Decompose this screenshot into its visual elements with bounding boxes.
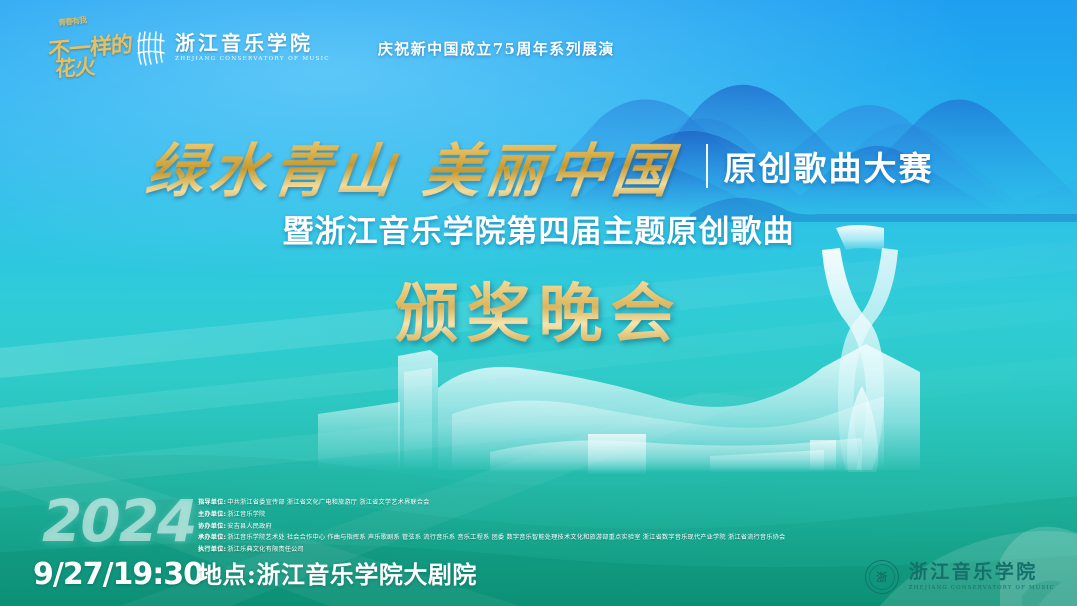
header-bar: 青春有我 不一样的 花火 浙江音乐 [0, 0, 1077, 96]
campaign-mark-tiny: 青春有我 [58, 15, 87, 29]
headline-award-ceremony: 颁奖晚会 [395, 263, 683, 355]
credit-label: 指导单位: [198, 499, 226, 506]
credit-value: 浙江音乐学院艺术处 社会合作中心 作曲与指挥系 声乐歌剧系 管弦系 流行音乐系 … [227, 534, 785, 541]
footer-logo-name-cn: 浙江音乐学院 [909, 563, 1055, 582]
title-block: 绿水青山 美丽中国 原创歌曲大赛 暨浙江音乐学院第四届主题原创歌曲 颁奖晚会 [0, 128, 1077, 355]
credit-value: 中共浙江省委宣传部 浙江省文化广电和旅游厅 浙江省文学艺术界联合会 [227, 499, 429, 506]
credit-row: 执行单位: 浙江乐典文化有限责任公司 [198, 546, 898, 553]
event-poster: 青春有我 不一样的 花火 浙江音乐 [0, 0, 1077, 606]
event-venue: 地点:浙江音乐学院大剧院 [198, 555, 477, 590]
zcom-monogram-icon [136, 29, 166, 67]
title-calligraphy-part1: 绿水青山 [138, 124, 408, 208]
credit-row: 指导单位: 中共浙江省委宣传部 浙江省文化广电和旅游厅 浙江省文学艺术界联合会 [198, 499, 898, 506]
title-subtitle: 暨浙江音乐学院第四届主题原创歌曲 [0, 206, 1077, 251]
footer-conservatory-logo: 浙 浙江音乐学院 ZHEJIANG CONSERVATORY OF MUSIC [865, 560, 1055, 594]
credit-label: 执行单位: [198, 546, 226, 553]
credit-label: 协办单位: [198, 523, 226, 530]
conservatory-name-en: ZHEJIANG CONSERVATORY OF MUSIC [175, 57, 330, 63]
campaign-calligraphy-mark: 青春有我 不一样的 花火 [46, 19, 120, 77]
conservatory-logo: 浙江音乐学院 ZHEJIANG CONSERVATORY OF MUSIC [136, 29, 330, 67]
seal-glyph: 浙 [876, 572, 887, 583]
event-year: 2024 [42, 492, 195, 550]
campaign-mark-line2: 花火 [55, 51, 95, 84]
credit-row: 主办单位: 浙江音乐学院 [198, 511, 898, 518]
credit-value: 浙江乐典文化有限责任公司 [227, 546, 304, 553]
credit-label: 主办单位: [198, 511, 226, 518]
title-divider [706, 144, 708, 188]
credit-label: 承办单位: [198, 534, 226, 541]
credit-row: 承办单位: 浙江音乐学院艺术处 社会合作中心 作曲与指挥系 声乐歌剧系 管弦系 … [198, 534, 898, 541]
credit-row: 协办单位: 安吉县人民政府 [198, 523, 898, 530]
title-calligraphy-part2: 美丽中国 [414, 124, 684, 208]
competition-label: 原创歌曲大赛 [724, 142, 934, 190]
conservatory-name-cn: 浙江音乐学院 [175, 33, 330, 53]
architecture-silhouette [318, 344, 920, 474]
credits-block: 指导单位: 中共浙江省委宣传部 浙江省文化广电和旅游厅 浙江省文学艺术界联合会 … [198, 499, 898, 553]
anniversary-series-label: 庆祝新中国成立75周年系列展演 [378, 38, 615, 59]
credit-value: 浙江音乐学院 [227, 511, 265, 518]
credit-value: 安吉县人民政府 [227, 523, 272, 530]
conservatory-seal-icon: 浙 [865, 560, 899, 594]
event-datetime: 9/27/19:30 [33, 557, 203, 592]
footer-logo-name-en: ZHEJIANG CONSERVATORY OF MUSIC [909, 586, 1055, 591]
title-primary-row: 绿水青山 美丽中国 原创歌曲大赛 [0, 128, 1077, 204]
